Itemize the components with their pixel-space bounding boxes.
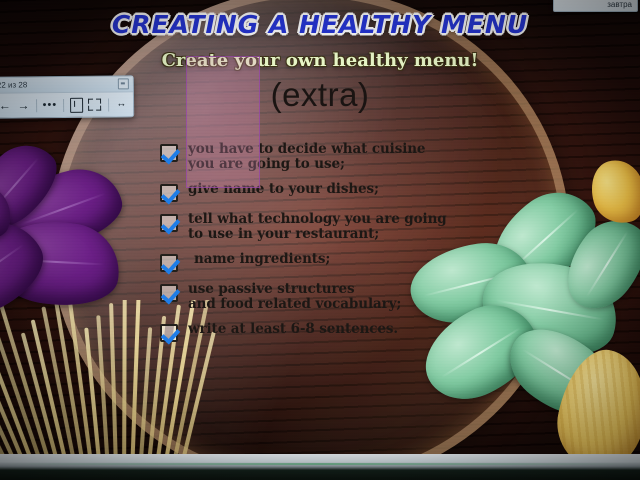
checkbox-checked-icon: [160, 184, 178, 202]
toolbar-divider: [108, 98, 109, 111]
page-indicator: 22 из 28: [0, 80, 27, 89]
more-options-icon[interactable]: •••: [42, 96, 58, 115]
purple-basil-cluster: [0, 155, 168, 370]
next-page-icon[interactable]: →: [16, 96, 32, 115]
monitor-bezel: [0, 454, 640, 480]
checklist-item-line: and food related vocabulary;: [188, 297, 401, 312]
checklist-item: tell what technology you are going to us…: [160, 212, 500, 242]
checklist-item-line: name ingredients;: [194, 252, 330, 267]
checkbox-checked-icon: [160, 324, 178, 342]
selection-rectangle[interactable]: [186, 56, 260, 188]
slide-subtitle: Create your own healthy menu!: [0, 50, 640, 71]
toolbar-divider: [63, 98, 64, 111]
page-view-icon[interactable]: [68, 95, 84, 114]
checklist-item: use passive structures and food related …: [160, 282, 500, 312]
fit-width-icon[interactable]: ↔: [113, 95, 129, 114]
checklist-item: write at least 6-8 sentences.: [160, 322, 500, 342]
checkbox-checked-icon: [160, 144, 178, 162]
toolbar-buttons: ← → ••• ↔: [0, 92, 133, 117]
slide-title: CREATING A HEALTHY MENU: [0, 10, 640, 39]
notification-text: завтра: [607, 0, 632, 9]
checkbox-checked-icon: [160, 214, 178, 232]
checklist-item: name ingredients;: [160, 252, 500, 272]
checklist-item-line: use passive structures: [188, 282, 401, 297]
checklist-item-line: to use in your restaurant;: [188, 227, 447, 242]
pdf-viewer-toolbar[interactable]: 22 из 28 ← → ••• ↔: [0, 75, 134, 118]
toolbar-titlebar: 22 из 28: [0, 76, 133, 93]
fullscreen-icon[interactable]: [87, 95, 103, 114]
os-notification-popup[interactable]: завтра: [553, 0, 638, 12]
checklist-item-line: tell what technology you are going: [188, 212, 447, 227]
projected-slide-photo: CREATING A HEALTHY MENU Create your own …: [0, 0, 640, 480]
checklist-item-line: write at least 6-8 sentences.: [188, 322, 398, 337]
previous-page-icon[interactable]: ←: [0, 96, 13, 115]
checkbox-checked-icon: [160, 254, 178, 272]
checkbox-checked-icon: [160, 284, 178, 302]
close-icon[interactable]: [118, 78, 129, 89]
toolbar-divider: [36, 99, 37, 112]
